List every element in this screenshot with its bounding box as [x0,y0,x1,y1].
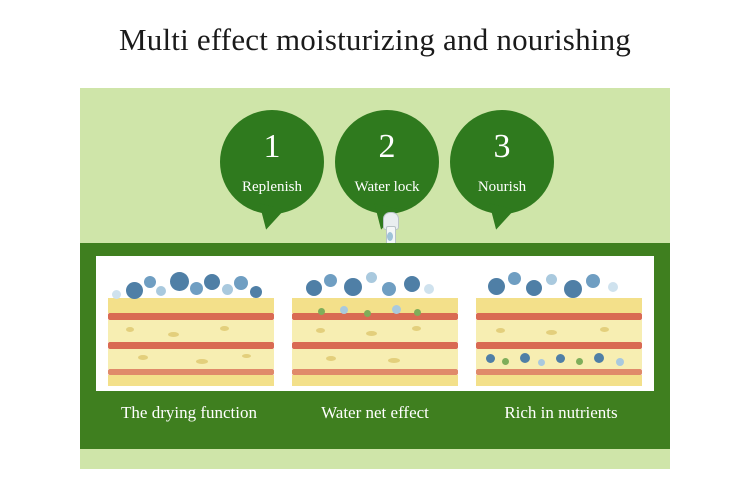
dropper-liquid [387,232,393,241]
skin-layer-bottom [108,375,274,386]
water-droplet [424,284,434,294]
water-droplet [204,274,220,290]
water-droplet [144,276,156,288]
bottom-green-band [80,449,670,469]
skin-layer-red-2 [292,342,458,349]
skin-speck [220,326,229,331]
nutrient-particle [576,358,583,365]
water-droplet [508,272,521,285]
skin-speck [496,328,505,333]
illustration-cell-2 [472,262,646,387]
skin-cross-section [292,298,458,386]
skin-speck [326,356,336,361]
skin-layer-top [108,298,274,313]
skin-layer-mid-1 [476,320,642,342]
illustration-cell-0 [104,262,278,387]
skin-speck [196,359,208,364]
illustration-canvas [96,256,654,391]
caption-drying-function: The drying function [96,403,282,423]
water-droplet [190,282,203,295]
nutrient-particle [364,310,371,317]
speech-tail-icon [483,203,514,233]
water-droplet [234,276,248,290]
water-droplet [324,274,337,287]
skin-layer-mid-2 [108,349,274,369]
water-droplet [170,272,189,291]
nutrient-particle [594,353,604,363]
step-bubble-1[interactable]: 1 Replenish [220,110,324,214]
skin-cross-section [108,298,274,386]
page-title: Multi effect moisturizing and nourishing [0,22,750,58]
step-bubble-3[interactable]: 3 Nourish [450,110,554,214]
step-number-1: 1 [220,110,324,164]
step-label-1: Replenish [220,164,324,195]
skin-speck [366,331,377,336]
skin-layer-top [292,298,458,313]
nutrient-particle [616,358,624,366]
nutrient-particle [520,353,530,363]
skin-speck [316,328,325,333]
skin-speck [388,358,400,363]
skin-layer-mid-1 [292,320,458,342]
water-droplet [156,286,166,296]
caption-rich-in-nutrients: Rich in nutrients [468,403,654,423]
steps-row: 1 Replenish 2 Water lock 3 Nourish [80,100,670,235]
infographic-page: Multi effect moisturizing and nourishing… [0,0,750,488]
water-droplet [126,282,143,299]
nutrient-particle [486,354,495,363]
skin-layer-mid-2 [476,349,642,369]
skin-speck [242,354,251,358]
water-droplet [366,272,377,283]
water-droplet [112,290,121,299]
nutrient-particle [414,309,421,316]
skin-layer-bottom [292,375,458,386]
caption-water-net-effect: Water net effect [282,403,468,423]
step-number-3: 3 [450,110,554,164]
step-bubble-2[interactable]: 2 Water lock [335,110,439,214]
skin-speck [126,327,134,332]
water-droplet [392,305,401,314]
illustration-cell-1 [288,262,462,387]
step-label-3: Nourish [450,164,554,195]
skin-layer-top [476,298,642,313]
caption-row: The drying function Water net effect Ric… [96,403,654,439]
water-droplet [344,278,362,296]
water-droplet [564,280,582,298]
water-droplet [546,274,557,285]
water-droplet [222,284,233,295]
skin-layer-red-1 [476,313,642,320]
nutrient-particle [538,359,545,366]
water-droplet [404,276,420,292]
skin-layer-red-2 [108,342,274,349]
water-droplet [382,282,396,296]
water-droplet [306,280,322,296]
skin-speck [412,326,421,331]
water-droplet [608,282,618,292]
skin-layer-mid-2 [292,349,458,369]
water-droplet [250,286,262,298]
speech-tail-icon [253,203,284,233]
nutrient-particle [556,354,565,363]
skin-cross-section [476,298,642,386]
skin-layer-red-2 [476,342,642,349]
illustration-panel: The drying function Water net effect Ric… [80,243,670,449]
skin-layer-red-1 [108,313,274,320]
skin-speck [600,327,609,332]
nutrient-particle [502,358,509,365]
skin-layer-red-1 [292,313,458,320]
water-droplet [586,274,600,288]
skin-layer-mid-1 [108,320,274,342]
nutrient-particle [318,308,325,315]
skin-speck [138,355,148,360]
skin-speck [168,332,179,337]
skin-layer-bottom [476,375,642,386]
water-droplet [488,278,505,295]
step-label-2: Water lock [335,164,439,195]
water-droplet [526,280,542,296]
water-droplet [340,306,348,314]
skin-speck [546,330,557,335]
step-number-2: 2 [335,110,439,164]
